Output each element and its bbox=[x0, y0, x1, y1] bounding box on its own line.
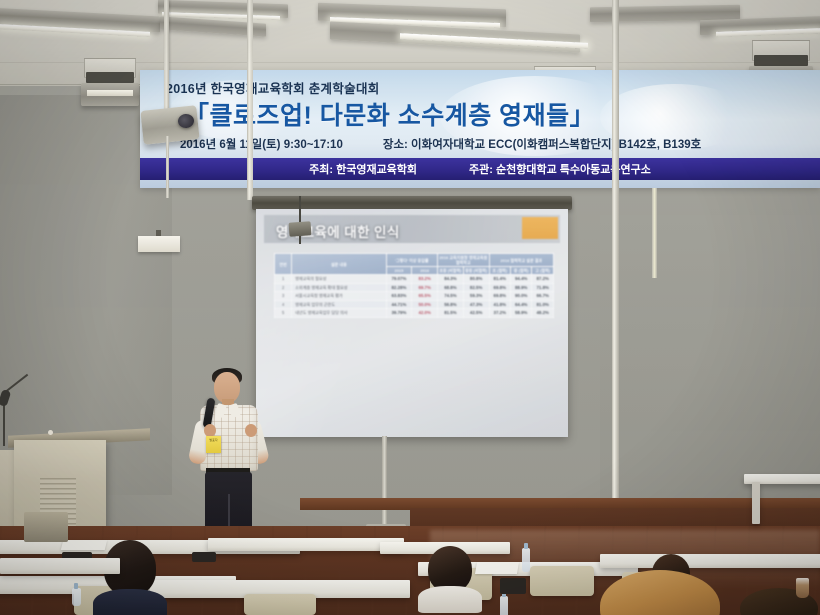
slide-row-value: 79.07% bbox=[386, 275, 412, 284]
ceiling-speaker-left bbox=[84, 58, 136, 106]
presenter: 발표자 bbox=[186, 368, 272, 536]
wall-panel-right bbox=[600, 215, 820, 545]
banner-datetime: 2016년 6월 11일(토) 9:30~17:10 bbox=[180, 139, 343, 151]
slide-row-value: 74.5% bbox=[438, 292, 464, 301]
banner-organizer: 주관: 순천향대학교 특수아동교육연구소 bbox=[469, 161, 651, 177]
slide-row-value: 44.71% bbox=[386, 300, 412, 309]
slide-row-value: 80.8% bbox=[463, 275, 489, 284]
slide-row-number: 1 bbox=[275, 275, 292, 284]
handout-paper-1 bbox=[61, 540, 107, 550]
hanging-white-sign bbox=[138, 236, 180, 252]
audience-head-mid-left bbox=[428, 546, 472, 592]
slide-row-value: 84.3% bbox=[438, 275, 464, 284]
slide-row-value: 37.2% bbox=[489, 309, 510, 318]
support-pole-right bbox=[612, 0, 619, 560]
chair-shadow-2 bbox=[192, 552, 216, 562]
th-survey-result: 2016 협력학교 설문 결과 bbox=[489, 254, 553, 267]
slide-row-value: 81.4% bbox=[489, 275, 510, 284]
slide-row-value: 69.7% bbox=[412, 283, 438, 292]
slide-row-value: 82.28% bbox=[386, 283, 412, 292]
water-bottle-2 bbox=[500, 596, 508, 615]
slide-row-question: 소외계층 영재교육 확대 필요성 bbox=[292, 283, 386, 292]
bag-on-table bbox=[500, 578, 526, 594]
iced-coffee-cup bbox=[796, 578, 809, 598]
slide-row-number: 4 bbox=[275, 300, 292, 309]
support-pole-right-secondary bbox=[652, 188, 657, 278]
th-elem-noncoop: 초등 (비협력) bbox=[438, 267, 464, 275]
chair-mid-right bbox=[530, 566, 594, 596]
slide-row-value: 42.5% bbox=[463, 309, 489, 318]
th-mid-coop: 중 (협력) bbox=[510, 267, 531, 275]
th-2015: 2015 bbox=[386, 267, 412, 275]
presenter-badge-label: 발표자 bbox=[207, 438, 220, 443]
projector-cable-bundle bbox=[289, 221, 312, 237]
equipment-cabinet bbox=[24, 512, 68, 542]
slide-row-value: 47.3% bbox=[463, 300, 489, 309]
projection-screen: 영재교육에 대한 인식 연번 설문 내용 '그렇다' 이상 응답률 2016 교… bbox=[256, 209, 568, 437]
slide-row-value: 41.8% bbox=[489, 300, 510, 309]
banner-location: 장소: 이화여자대학교 ECC(이화캠퍼스복합단지) B142호, B139호 bbox=[383, 139, 701, 151]
audience-table-back-far-right bbox=[600, 554, 820, 568]
screen-glare bbox=[256, 209, 443, 437]
banner-main-title: 「클로즈업! 다문화 소수계층 영재들」 bbox=[184, 96, 820, 132]
slide-table-row: 5내년도 영재교육업무 담당 의사39.79%42.0%81.5%42.5%37… bbox=[275, 309, 554, 318]
banner-detail-line: 2016년 6월 11일(토) 9:30~17:10장소: 이화여자대학교 EC… bbox=[180, 136, 820, 152]
slide-table-row: 1영재교육의 필요성79.07%83.2%84.3%80.8%81.4%94.4… bbox=[275, 275, 554, 284]
slide-row-value: 94.4% bbox=[510, 275, 531, 284]
slide-row-value: 68.8% bbox=[438, 283, 464, 292]
slide-row-value: 42.0% bbox=[412, 309, 438, 318]
audience-table-back-center bbox=[208, 538, 404, 551]
banner-bottom-bar: 주최: 한국영재교육학회 주관: 순천향대학교 특수아동교육연구소 bbox=[140, 158, 820, 180]
slide-row-value: 88.9% bbox=[510, 283, 531, 292]
slide-row-question: 영재교육 업무의 곤란도 bbox=[292, 300, 386, 309]
th-2016: 2016 bbox=[412, 267, 438, 275]
slide-row-number: 5 bbox=[275, 309, 292, 318]
screen-pull-cord bbox=[299, 196, 301, 244]
projector-drop-rod bbox=[166, 136, 169, 198]
slide-row-value: 66.7% bbox=[532, 292, 554, 301]
slide-row-question: 영재교육의 필요성 bbox=[292, 275, 386, 284]
screen-softness bbox=[256, 209, 568, 437]
water-bottle-1 bbox=[522, 548, 530, 572]
handout-paper-2 bbox=[475, 562, 519, 574]
lecture-hall-photo: 2016년 한국영재교육학회 춘계학술대회 「클로즈업! 다문화 소수계층 영재… bbox=[0, 0, 820, 615]
th-elem-coop: 초 (협력) bbox=[489, 267, 510, 275]
slide-row-value: 48.2% bbox=[532, 309, 554, 318]
slide-row-value: 69.8% bbox=[489, 283, 510, 292]
slide-data-table: 연번 설문 내용 '그렇다' 이상 응답률 2016 교육지원청 영재교육원 협… bbox=[274, 253, 554, 318]
screen-stand-leg bbox=[382, 436, 387, 528]
slide-row-value: 81.5% bbox=[438, 309, 464, 318]
slide-row-value: 83.2% bbox=[412, 275, 438, 284]
slide-table-row: 4영재교육 업무의 곤란도44.71%50.0%56.8%47.3%41.8%6… bbox=[275, 300, 554, 309]
slide-row-number: 2 bbox=[275, 283, 292, 292]
slide-row-value: 63.83% bbox=[386, 292, 412, 301]
slide-row-value: 50.0% bbox=[412, 300, 438, 309]
th-question: 설문 내용 bbox=[292, 254, 386, 275]
support-pole-left bbox=[247, 0, 253, 200]
slide-table-row: 3서울시교육청 영재교육 평가63.83%65.5%74.5%59.3%69.8… bbox=[275, 292, 554, 301]
slide-row-value: 64.4% bbox=[510, 300, 531, 309]
slide-table-header-row-top: 연번 설문 내용 '그렇다' 이상 응답률 2016 교육지원청 영재교육원 협… bbox=[275, 254, 554, 267]
th-agree-rate: '그렇다' 이상 응답률 bbox=[386, 254, 437, 267]
slide-table-head: 연번 설문 내용 '그렇다' 이상 응답률 2016 교육지원청 영재교육원 협… bbox=[275, 254, 554, 275]
slide-row-value: 59.3% bbox=[463, 292, 489, 301]
slide-row-value: 87.2% bbox=[532, 275, 554, 284]
slide-row-value: 58.9% bbox=[510, 309, 531, 318]
audience-head-blonde bbox=[600, 570, 720, 615]
slide-row-value: 39.79% bbox=[386, 309, 412, 318]
slide-row-question: 서울시교육청 영재교육 평가 bbox=[292, 292, 386, 301]
th-high-coop: 고 (협력) bbox=[532, 267, 554, 275]
th-mid-noncoop: 중등 (비협력) bbox=[463, 267, 489, 275]
slide-table-body: 1영재교육의 필요성79.07%83.2%84.3%80.8%81.4%94.4… bbox=[275, 275, 554, 318]
front-table-left bbox=[0, 558, 120, 574]
slide-table-row: 2소외계층 영재교육 확대 필요성82.28%69.7%68.8%82.5%69… bbox=[275, 283, 554, 292]
th-no: 연번 bbox=[275, 254, 292, 275]
slide-accent-block bbox=[522, 217, 558, 239]
banner-host: 주최: 한국영재교육학회 bbox=[309, 161, 417, 177]
slide-row-value: 69.8% bbox=[489, 292, 510, 301]
slide-row-value: 81.0% bbox=[532, 300, 554, 309]
slide-row-value: 90.0% bbox=[510, 292, 531, 301]
slide-row-value: 56.8% bbox=[438, 300, 464, 309]
side-table-leg-right bbox=[752, 482, 760, 524]
lectern-knob bbox=[48, 430, 53, 435]
slide-row-number: 3 bbox=[275, 292, 292, 301]
slide-row-value: 71.8% bbox=[532, 283, 554, 292]
slide-row-value: 82.5% bbox=[463, 283, 489, 292]
slide-row-question: 내년도 영재교육업무 담당 의사 bbox=[292, 309, 386, 318]
water-cup-left bbox=[72, 588, 81, 606]
th-coop-school: 2016 교육지원청 영재교육원 협력학교 bbox=[438, 254, 489, 267]
conference-banner: 2016년 한국영재교육학회 춘계학술대회 「클로즈업! 다문화 소수계층 영재… bbox=[140, 70, 820, 188]
chair-front-center bbox=[244, 594, 316, 615]
banner-conference-line: 2016년 한국영재교육학회 춘계학술대회 bbox=[166, 78, 806, 97]
slide-row-value: 65.5% bbox=[412, 292, 438, 301]
presenter-hand-right bbox=[245, 424, 257, 437]
